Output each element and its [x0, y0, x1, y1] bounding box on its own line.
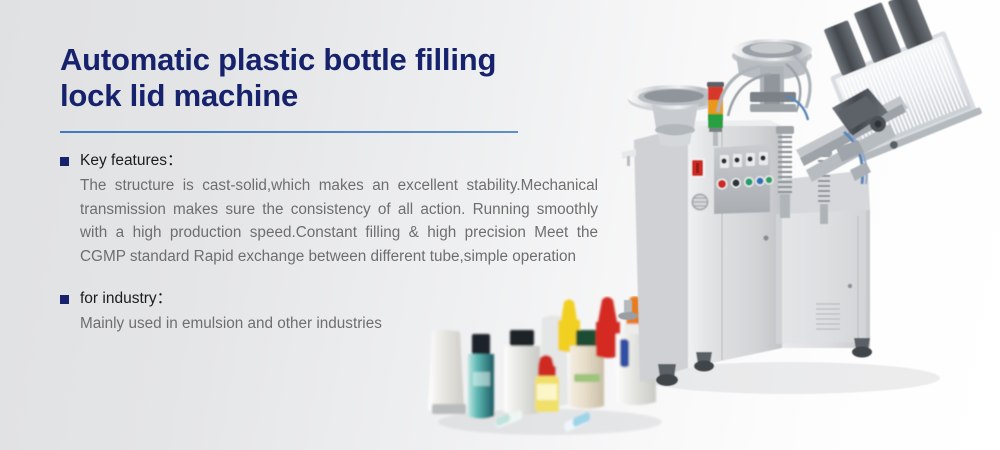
feature-body-text: Mainly used in emulsion and other indust…: [80, 312, 598, 336]
feature-block-key-features: Key features： The structure is cast-soli…: [60, 151, 620, 268]
feature-heading-label: for industry：: [80, 289, 172, 309]
page-title: Automatic plastic bottle filling lock li…: [60, 42, 550, 114]
banner-text-column: Automatic plastic bottle filling lock li…: [60, 42, 620, 351]
machine-svg: [600, 0, 1000, 450]
product-banner: Automatic plastic bottle filling lock li…: [0, 0, 1000, 450]
filling-machine-image: [600, 0, 1000, 450]
title-divider: [60, 131, 518, 133]
feature-heading-row: Key features：: [60, 151, 620, 171]
feature-heading-row: for industry：: [60, 289, 620, 309]
bullet-square-icon: [60, 295, 69, 304]
feature-block-for-industry: for industry： Mainly used in emulsion an…: [60, 289, 620, 336]
bullet-square-icon: [60, 157, 69, 166]
feature-heading-label: Key features：: [80, 151, 183, 171]
feature-body-text: The structure is cast-solid,which makes …: [80, 174, 598, 268]
